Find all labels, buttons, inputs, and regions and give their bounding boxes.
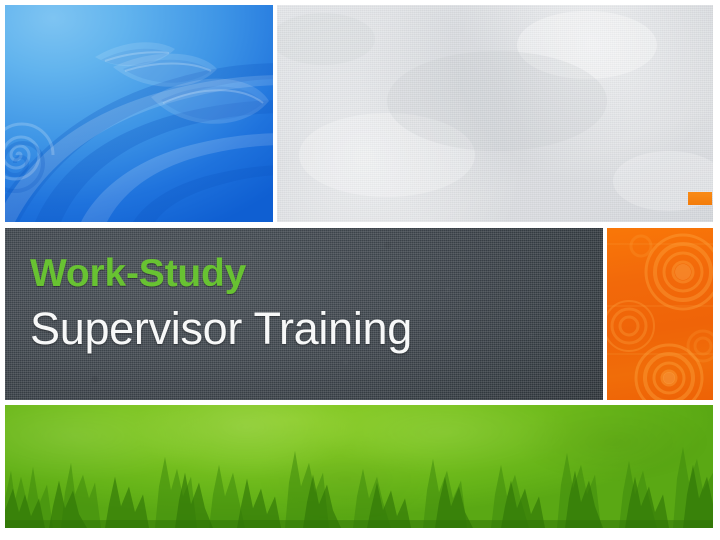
grass-blades-graphic bbox=[5, 437, 713, 528]
title-bar: Work-Study Supervisor Training bbox=[5, 228, 603, 400]
orange-accent-mark bbox=[688, 192, 712, 205]
orange-ring-core-bottom bbox=[663, 372, 675, 384]
orange-circles-graphic bbox=[607, 228, 713, 400]
gray-texture-blobs bbox=[277, 5, 713, 222]
orange-ring-core-top bbox=[675, 264, 691, 280]
slide-canvas: Work-Study Supervisor Training bbox=[0, 0, 720, 540]
orange-circles-panel bbox=[607, 228, 713, 400]
blue-swirl-decor-panel bbox=[5, 5, 273, 222]
grass-base-shadow bbox=[5, 520, 713, 528]
title-text-block: Work-Study Supervisor Training bbox=[30, 254, 590, 352]
blue-swirl-graphic bbox=[5, 5, 273, 222]
grass-panel bbox=[5, 405, 713, 528]
gray-texture-panel bbox=[277, 5, 713, 222]
page-subtitle: Supervisor Training bbox=[30, 305, 590, 352]
orange-rings-mid bbox=[607, 301, 654, 351]
page-title: Work-Study bbox=[30, 254, 590, 295]
